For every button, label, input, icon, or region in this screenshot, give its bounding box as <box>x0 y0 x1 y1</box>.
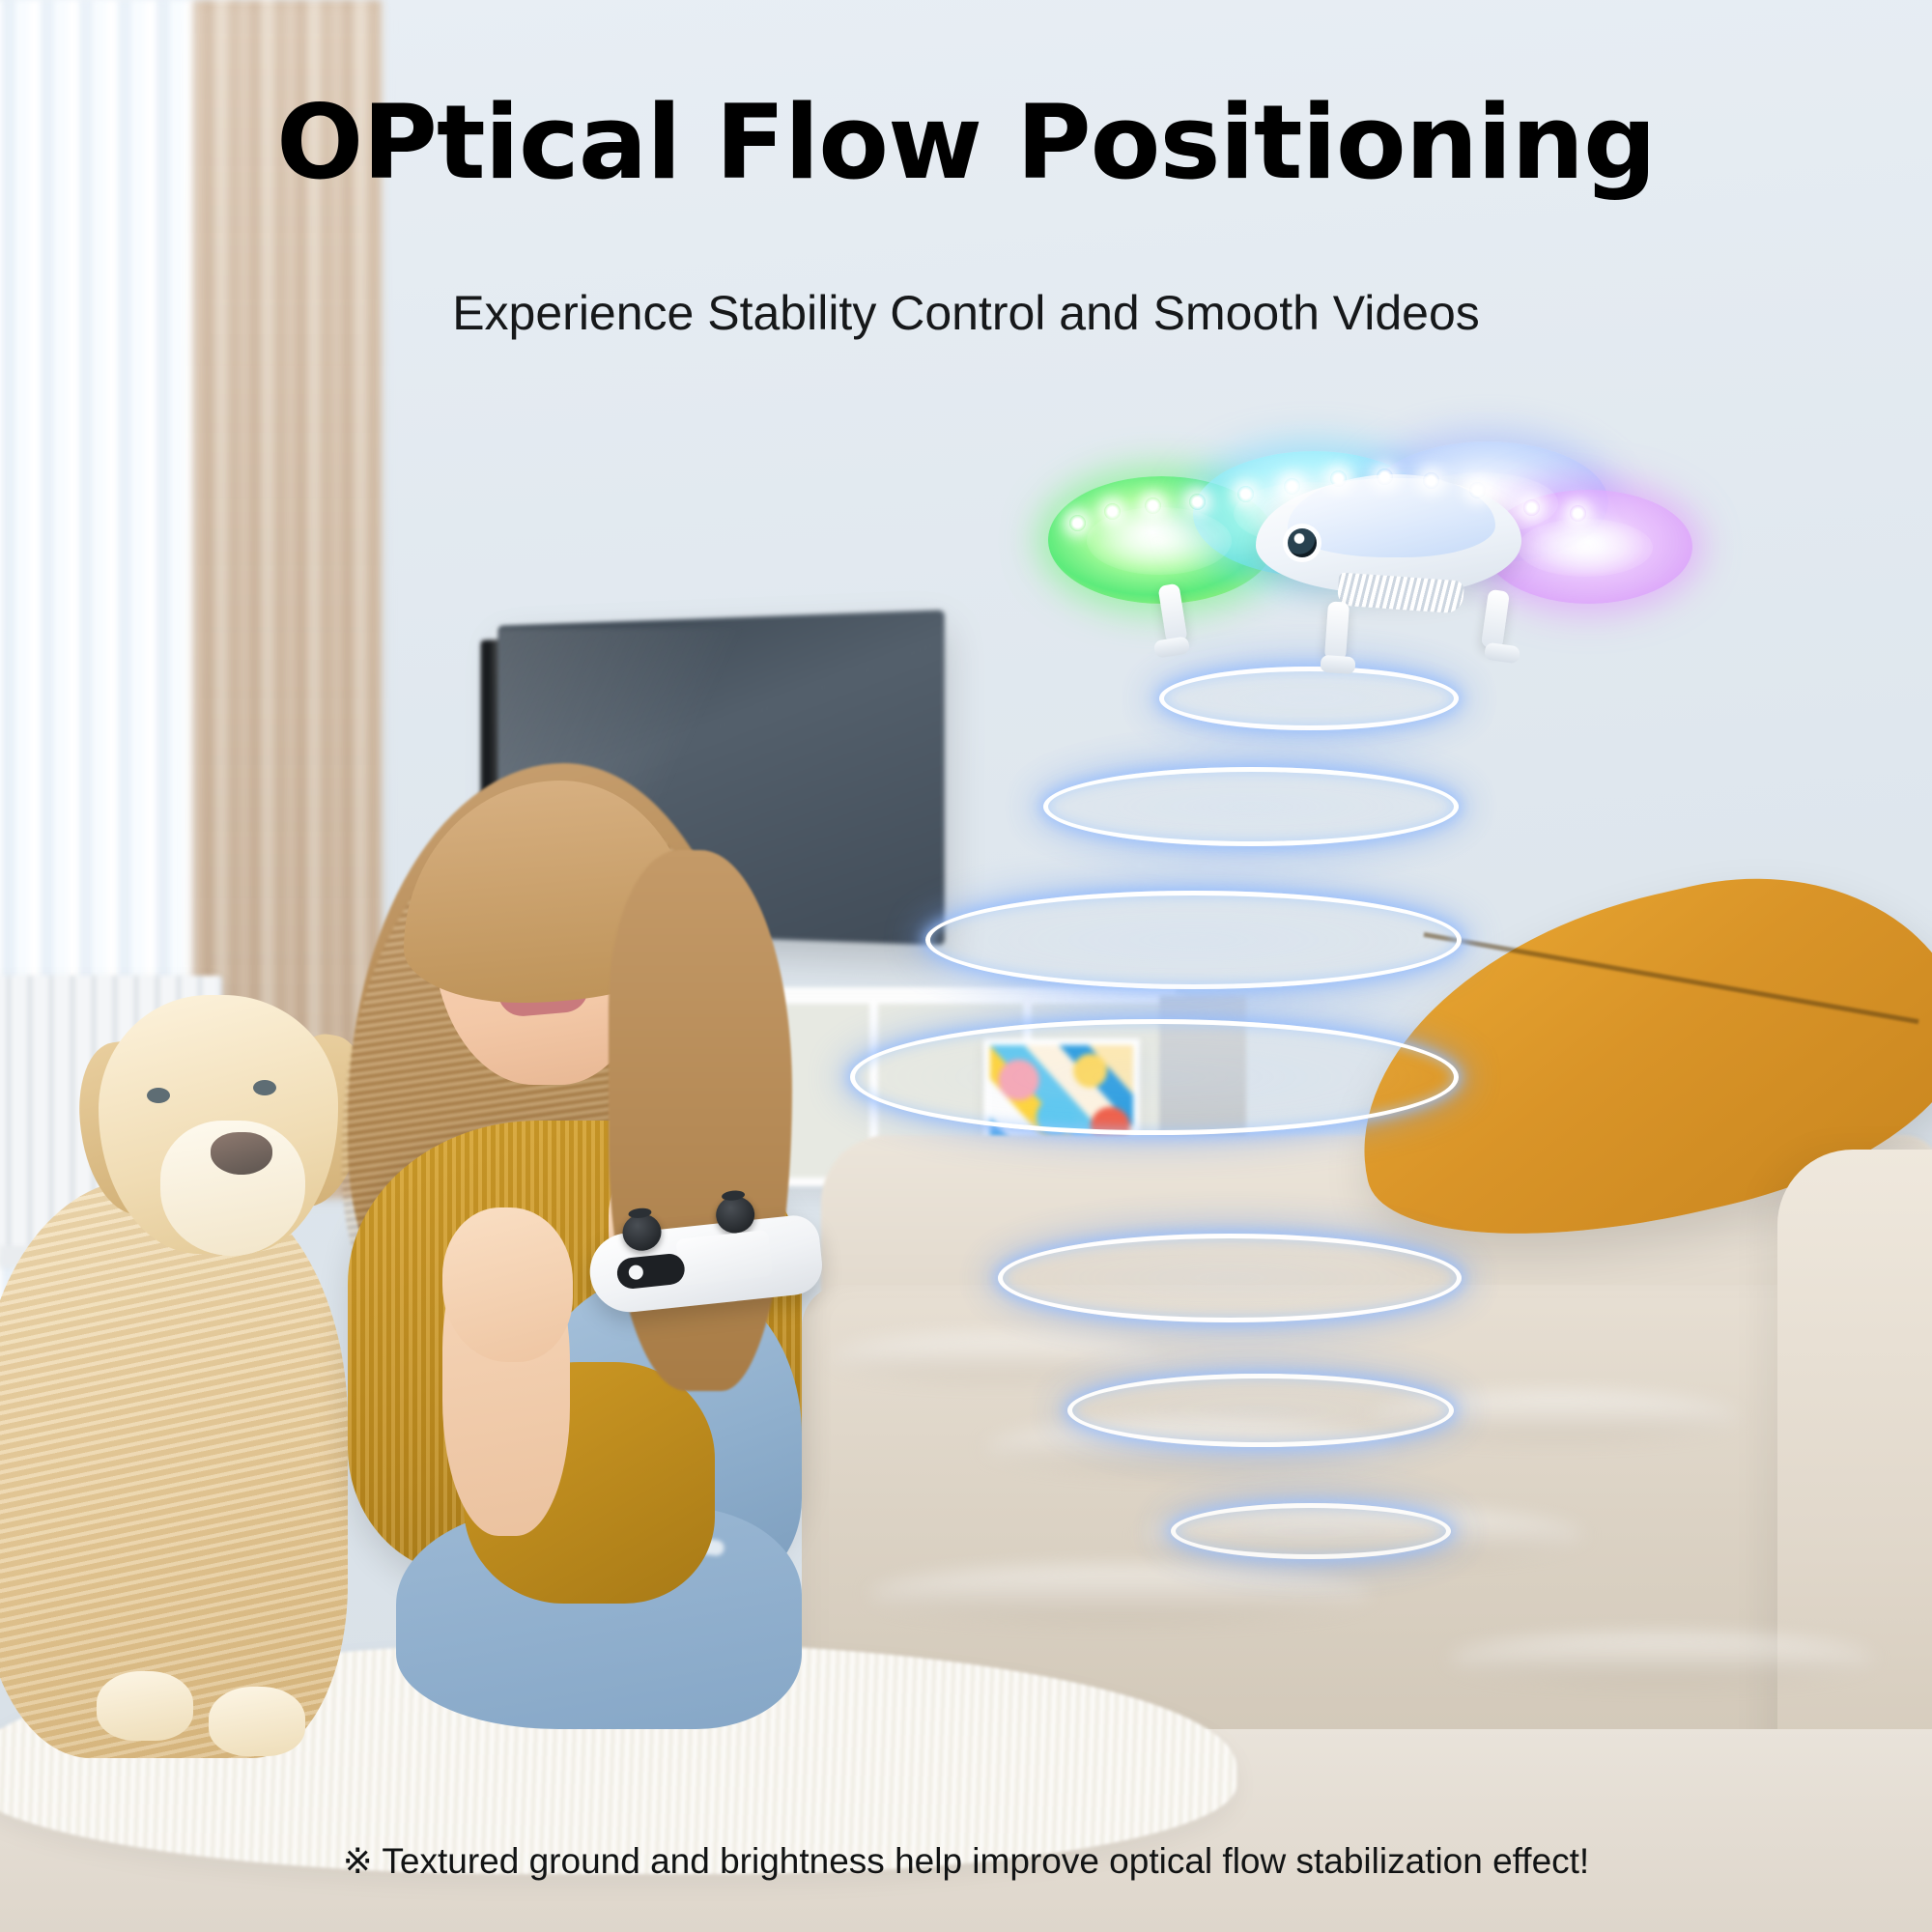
drone-led <box>1377 469 1393 485</box>
signal-ring-7 <box>1171 1503 1451 1559</box>
dog-fur-texture <box>0 1179 348 1758</box>
drone-camera-lens <box>1288 528 1317 557</box>
signal-ring-4 <box>850 1019 1459 1135</box>
drone-led <box>1104 503 1121 520</box>
landing-leg <box>1481 589 1510 649</box>
drone-led <box>1423 472 1439 489</box>
dog-eye <box>147 1088 170 1103</box>
dog-eye <box>253 1080 276 1095</box>
drone-led <box>1284 478 1300 495</box>
sofa-fold <box>1449 1633 1874 1685</box>
drone-led <box>1069 515 1086 531</box>
landing-leg <box>1324 601 1350 660</box>
sofa-armrest <box>1777 1150 1932 1826</box>
left-hand <box>442 1207 573 1362</box>
footnote-text: ※ Textured ground and brightness help im… <box>0 1840 1932 1882</box>
drone-led <box>1237 486 1254 502</box>
landing-foot <box>1320 655 1355 674</box>
dog-paw <box>97 1671 193 1741</box>
drone-led <box>1189 494 1206 510</box>
signal-ring-2 <box>1043 767 1459 846</box>
signal-ring-5 <box>998 1234 1462 1322</box>
signal-ring-1 <box>1159 667 1459 730</box>
drone-led <box>1523 499 1540 516</box>
landing-foot <box>1484 642 1520 665</box>
page-title: OPtical Flow Positioning <box>0 92 1932 194</box>
rgb-led-drone <box>1048 440 1666 671</box>
signal-ring-3 <box>925 891 1462 989</box>
drone-led <box>1570 505 1586 522</box>
controller-touchpad[interactable] <box>675 1230 772 1286</box>
landing-foot <box>1153 636 1190 658</box>
drone-led <box>1330 470 1347 487</box>
dog-paw <box>209 1687 305 1756</box>
drone-led <box>1469 482 1486 498</box>
product-poster: OPtical Flow Positioning Experience Stab… <box>0 0 1932 1932</box>
page-subtitle: Experience Stability Control and Smooth … <box>0 285 1932 341</box>
dog-nose <box>211 1132 272 1175</box>
signal-ring-6 <box>1067 1374 1454 1447</box>
drone-led <box>1145 497 1161 514</box>
propeller-blur <box>1518 519 1653 577</box>
